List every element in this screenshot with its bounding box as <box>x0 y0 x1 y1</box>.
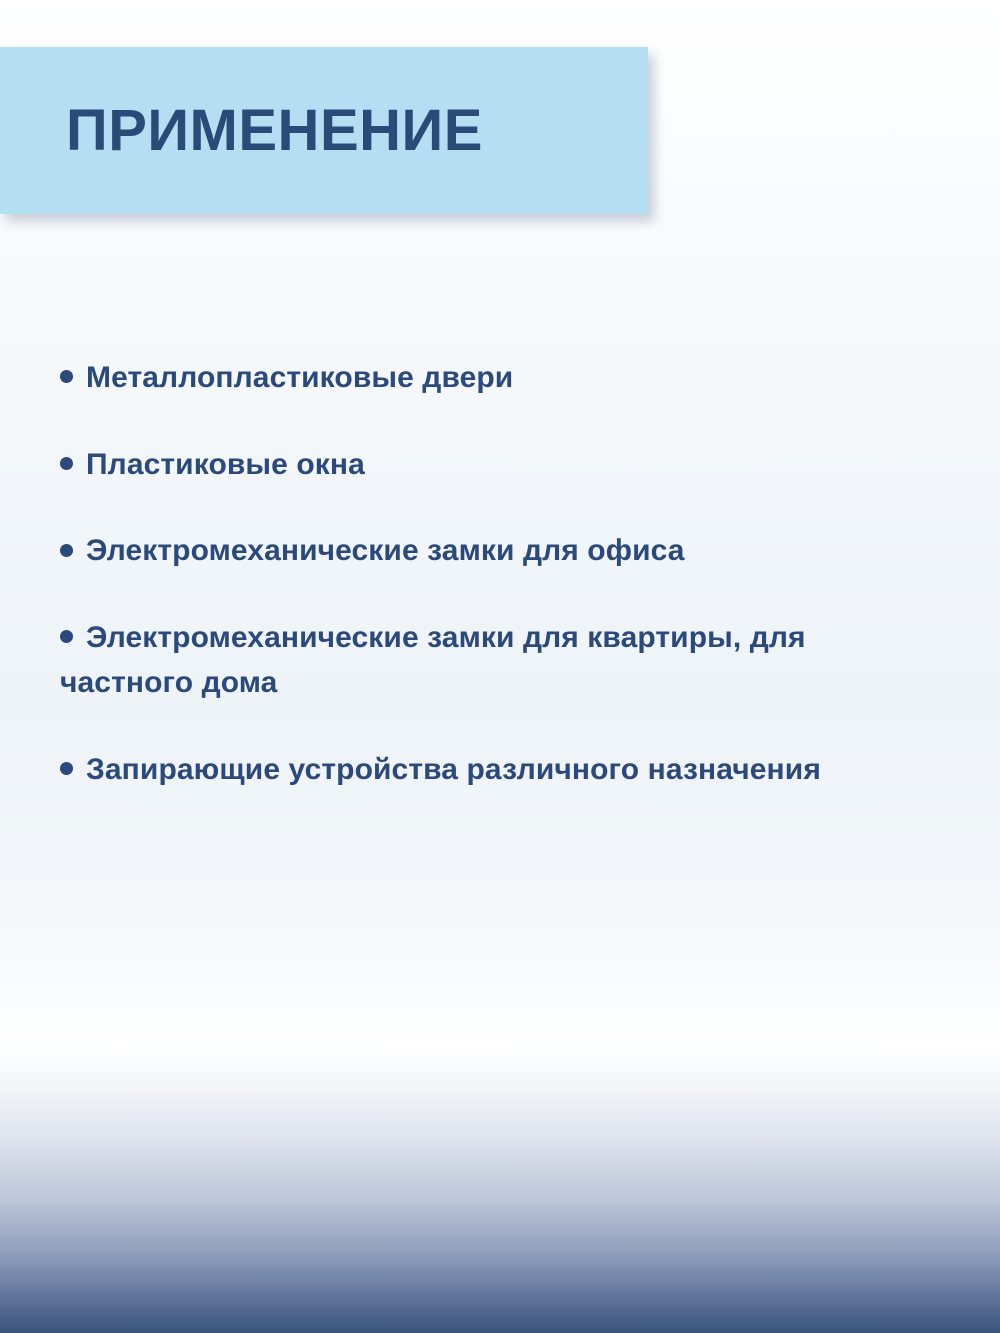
bullet-dot-icon <box>60 544 73 557</box>
list-item-label: Запирающие устройства различного назначе… <box>86 753 821 786</box>
list-item: Пластиковые окна <box>60 442 820 488</box>
list-item: Металлопластиковые двери <box>60 355 820 401</box>
bullet-dot-icon <box>60 457 73 470</box>
list-item-label: Металлопластиковые двери <box>86 361 513 394</box>
list-item-label: Пластиковые окна <box>86 448 365 481</box>
header-banner: ПРИМЕНЕНИЕ <box>0 47 648 214</box>
bullet-dot-icon <box>60 762 73 775</box>
list-item: Электромеханические замки для офиса <box>60 528 950 574</box>
bullet-dot-icon <box>60 630 73 643</box>
slide-canvas: ПРИМЕНЕНИЕ Металлопластиковые двери Плас… <box>0 0 1000 1333</box>
page-title: ПРИМЕНЕНИЕ <box>66 102 483 160</box>
list-item: Запирающие устройства различного назначе… <box>60 747 890 793</box>
bullet-dot-icon <box>60 370 73 383</box>
application-list: Металлопластиковые двери Пластиковые окн… <box>60 355 960 793</box>
list-item: Электромеханические замки для квартиры, … <box>60 615 820 706</box>
list-item-label: Электромеханические замки для офиса <box>86 534 685 567</box>
list-item-label: Электромеханические замки для квартиры, … <box>60 621 806 700</box>
